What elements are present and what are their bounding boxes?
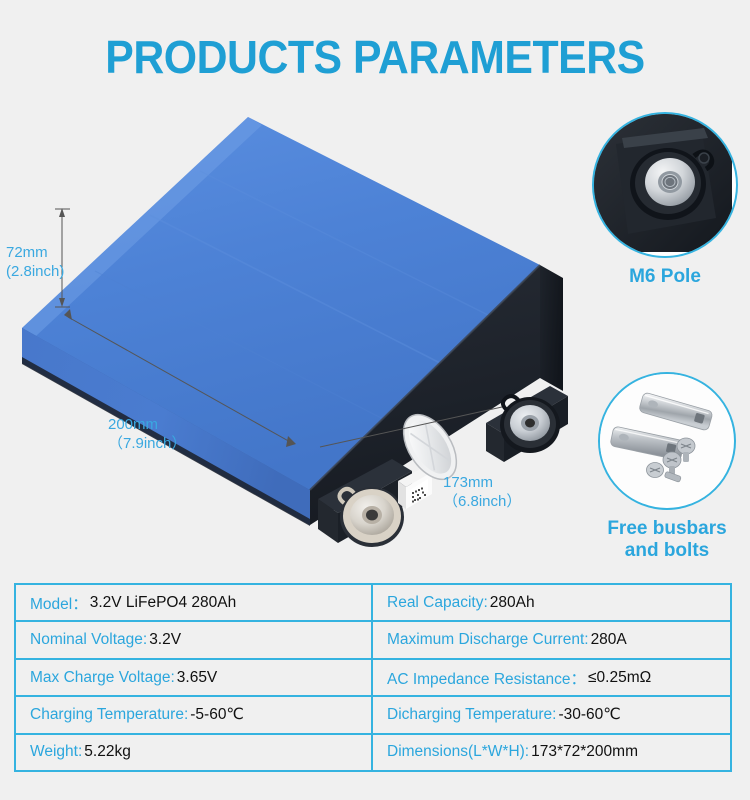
dimension-depth-mm: 200mm [108,416,158,433]
busbars-caption-line2: and bolts [625,540,709,561]
spec-cell-real-capacity: Real Capacity: 280Ah [373,585,730,620]
busbars-caption: Free busbars and bolts [598,518,736,562]
spec-cell-dimensions: Dimensions(L*W*H): 173*72*200mm [373,735,730,770]
dimension-height-mm: 72mm [6,244,48,261]
spec-value: 280A [589,631,627,649]
spec-value: -5-60℃ [188,705,244,724]
dimension-width: 173mm （6.8inch） [443,473,521,511]
spec-label: Charging Temperature: [30,706,188,724]
spec-cell-max-charge-voltage: Max Charge Voltage: 3.65V [16,660,373,695]
spec-label: Model： [30,592,88,614]
spec-value: 280Ah [488,594,535,612]
dimension-width-inch: （6.8inch） [443,492,521,511]
dimension-depth: 200mm （7.9inch） [108,415,186,453]
free-busbars-inset: Free busbars and bolts [598,372,736,562]
spec-label: Weight: [30,743,82,761]
spec-label: Maximum Discharge Current: [387,631,589,649]
spec-cell-max-discharge-current: Maximum Discharge Current: 280A [373,622,730,657]
table-row: Nominal Voltage: 3.2V Maximum Discharge … [16,622,730,659]
dimension-height: 72mm (2.8inch) [6,243,64,281]
spec-value: -30-60℃ [556,705,620,724]
spec-label: Dimensions(L*W*H): [387,743,529,761]
spec-label: AC Impedance Resistance： [387,667,586,689]
m6-pole-photo [592,112,738,258]
busbars-caption-line1: Free busbars [607,518,726,539]
m6-pole-inset: M6 Pole [592,112,738,288]
spec-label: Real Capacity: [387,594,488,612]
spec-cell-model: Model： 3.2V LiFePO4 280Ah [16,585,373,620]
dimension-depth-inch: （7.9inch） [108,434,186,453]
dimension-height-inch: (2.8inch) [6,262,64,281]
spec-value: 3.2V [147,631,181,649]
spec-cell-weight: Weight: 5.22kg [16,735,373,770]
table-row: Max Charge Voltage: 3.65V AC Impedance R… [16,660,730,697]
specification-table: Model： 3.2V LiFePO4 280Ah Real Capacity:… [14,583,732,772]
spec-label: Max Charge Voltage: [30,669,175,687]
page-title: PRODUCTS PARAMETERS [26,30,724,84]
dimension-width-mm: 173mm [443,474,493,491]
spec-cell-charging-temperature: Charging Temperature: -5-60℃ [16,697,373,732]
spec-cell-nominal-voltage: Nominal Voltage: 3.2V [16,622,373,657]
busbars-photo [598,372,736,510]
table-row: Charging Temperature: -5-60℃ Dicharging … [16,697,730,734]
product-parameters-page: PRODUCTS PARAMETERS [0,0,750,800]
spec-cell-discharging-temperature: Dicharging Temperature: -30-60℃ [373,697,730,732]
spec-value: 173*72*200mm [529,743,638,761]
spec-label: Nominal Voltage: [30,631,147,649]
spec-value: 3.65V [175,669,218,687]
spec-label: Dicharging Temperature: [387,706,556,724]
m6-pole-caption: M6 Pole [592,266,738,288]
table-row: Model： 3.2V LiFePO4 280Ah Real Capacity:… [16,585,730,622]
spec-value: 3.2V LiFePO4 280Ah [88,594,237,612]
spec-value: ≤0.25mΩ [586,669,651,687]
table-row: Weight: 5.22kg Dimensions(L*W*H): 173*72… [16,735,730,770]
spec-value: 5.22kg [82,743,131,761]
spec-cell-ac-impedance: AC Impedance Resistance： ≤0.25mΩ [373,660,730,695]
